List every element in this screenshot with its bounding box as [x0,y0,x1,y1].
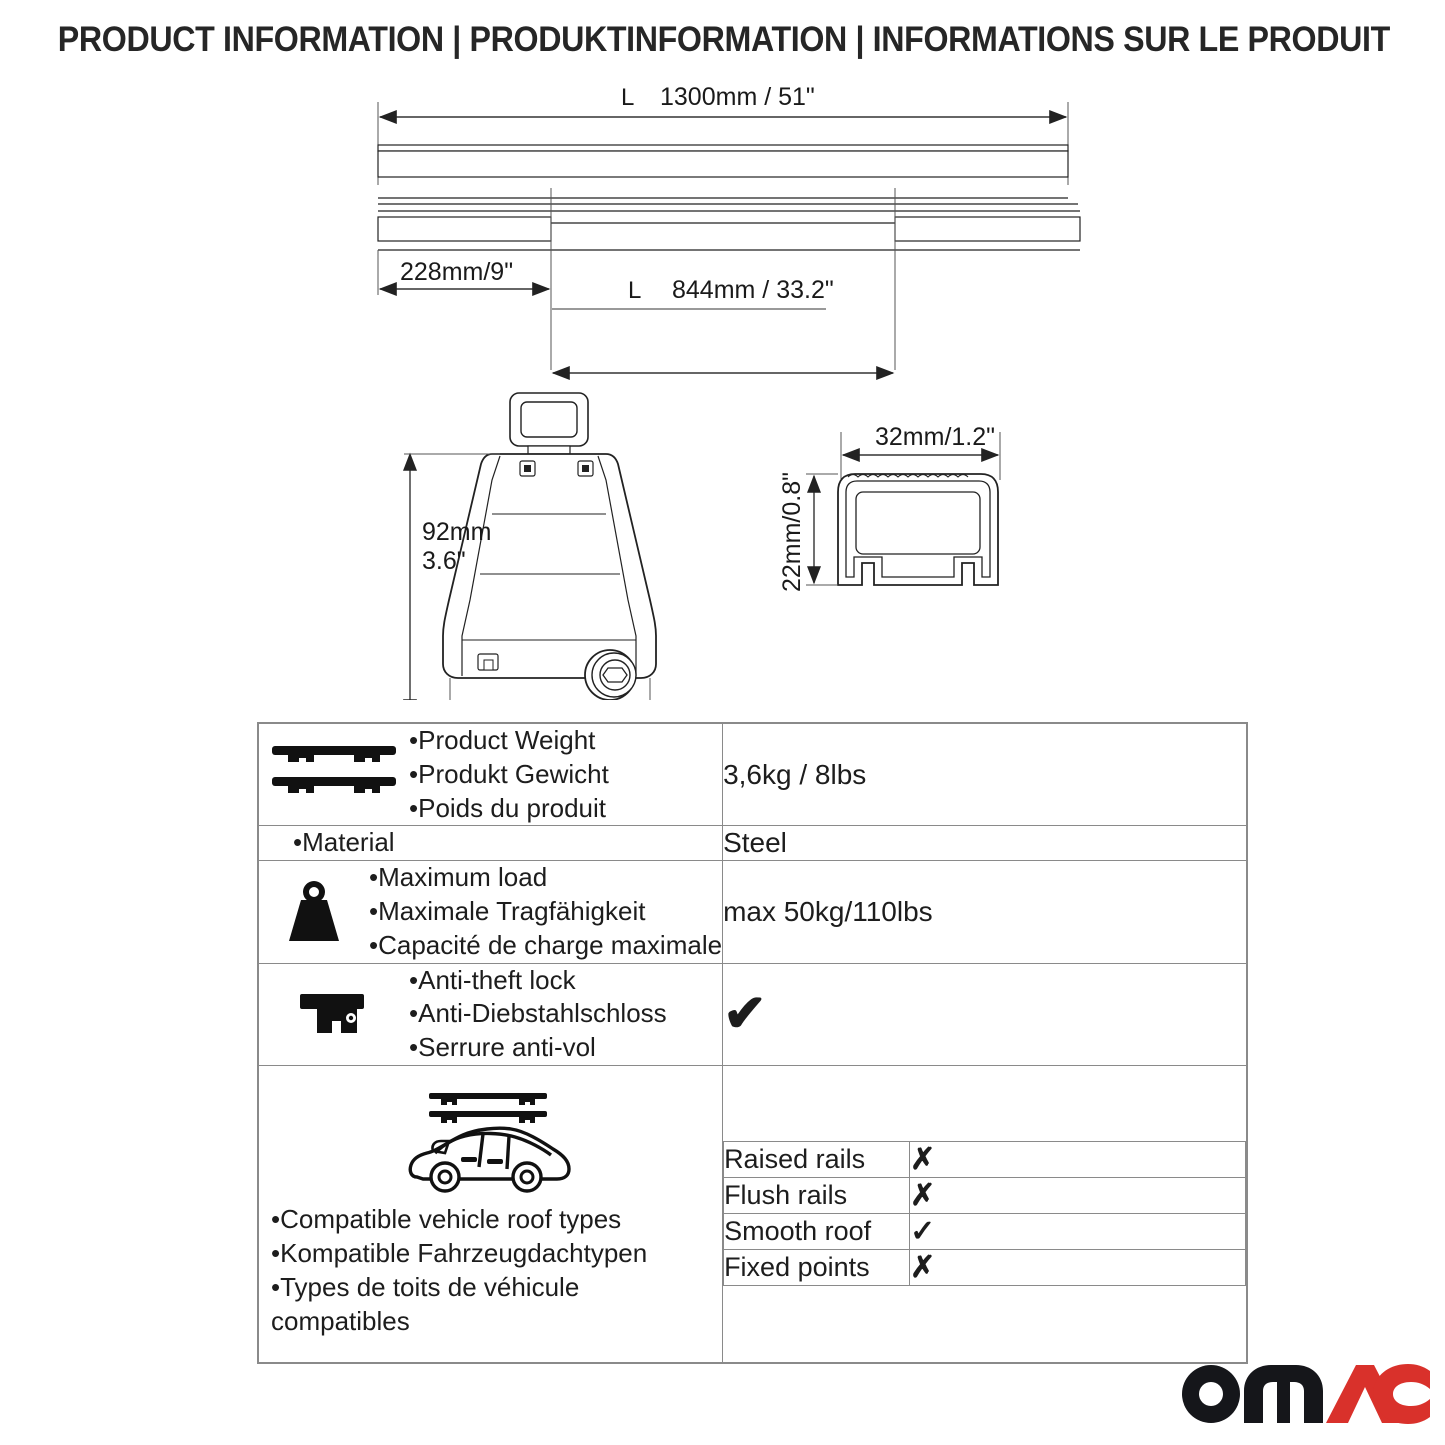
lock-icon [259,988,409,1040]
roof-type-row-raised: Raised rails ✗ [724,1142,1246,1178]
roof-types-subtable-cell: Raised rails ✗ Flush rails ✗ Smooth roof… [723,1065,1247,1363]
label-material: •Material [293,826,395,860]
row-label-cell-roof-types: •Compatible vehicle roof types •Kompatib… [258,1065,723,1363]
roof-type-mark-fixed: ✗ [910,1250,1246,1286]
table-row: •Compatible vehicle roof types •Kompatib… [258,1065,1247,1363]
table-row: •Anti-theft lock •Anti-Diebstahlschloss … [258,963,1247,1065]
label-product-weight-fr: •Poids du produit [409,792,609,826]
value-max-load: max 50kg/110lbs [723,861,1247,963]
specification-table: •Product Weight •Produkt Gewicht •Poids … [257,722,1248,1364]
label-roof-types-fr: •Types de toits de véhicule compatibles [271,1271,716,1339]
omac-logo [1178,1363,1430,1425]
label-lock-de: •Anti-Diebstahlschloss [409,997,667,1031]
label-max-load-fr: •Capacité de charge maximale [369,929,722,963]
label-roof-types-en: •Compatible vehicle roof types [271,1203,716,1237]
dim-228-value: 228mm/9" [400,258,513,286]
roof-type-name-fixed: Fixed points [724,1250,910,1286]
label-product-weight-de: •Produkt Gewicht [409,758,609,792]
dim-844-symbol: L [628,277,641,304]
page-title: PRODUCT INFORMATION | PRODUKTINFORMATION… [58,20,1387,60]
value-product-weight: 3,6kg / 8lbs [723,723,1247,826]
table-row: •Material Steel [258,826,1247,861]
label-max-load-en: •Maximum load [369,861,722,895]
label-lock-en: •Anti-theft lock [409,964,667,998]
dim-22-value: 22mm/0.8" [778,472,806,592]
table-row: •Maximum load •Maximale Tragfähigkeit •C… [258,861,1247,963]
label-product-weight-en: •Product Weight [409,724,609,758]
label-roof-types-de: •Kompatible Fahrzeugdachtypen [271,1237,716,1271]
roof-type-mark-raised: ✗ [910,1142,1246,1178]
table-row: •Product Weight •Produkt Gewicht •Poids … [258,723,1247,826]
roof-type-row-smooth: Smooth roof ✓ [724,1214,1246,1250]
dim-844-value: 844mm / 33.2" [672,276,834,304]
label-lock-fr: •Serrure anti-vol [409,1031,667,1065]
dim-32-value: 32mm/1.2" [875,423,995,451]
roof-type-row-fixed: Fixed points ✗ [724,1250,1246,1286]
weight-icon [259,879,369,945]
foot-front-view: 92mm 3.6" 104mm / 4" [404,393,656,700]
roof-type-name-flush: Flush rails [724,1178,910,1214]
row-label-cell-max-load: •Maximum load •Maximale Tragfähigkeit •C… [258,861,723,963]
crossbars-icon [259,744,409,806]
roof-type-name-smooth: Smooth roof [724,1214,910,1250]
label-max-load-de: •Maximale Tragfähigkeit [369,895,722,929]
dim-1300-symbol: L [621,84,634,111]
value-material: Steel [723,826,1247,861]
car-with-rack-icon [259,1075,722,1203]
roof-types-table: Raised rails ✗ Flush rails ✗ Smooth roof… [723,1141,1246,1286]
roof-type-name-raised: Raised rails [724,1142,910,1178]
dim-92-line2: 3.6" [422,547,466,575]
roof-type-mark-smooth: ✓ [910,1214,1246,1250]
technical-drawing: L 1300mm / 51" 228mm/9" L 844mm / 33.2" [0,80,1445,700]
value-lock-check: ✔ [723,963,1247,1065]
dim-1300-value: 1300mm / 51" [660,83,815,111]
row-label-cell-material: •Material [258,826,723,861]
row-label-cell-lock: •Anti-theft lock •Anti-Diebstahlschloss … [258,963,723,1065]
roof-type-mark-flush: ✗ [910,1178,1246,1214]
dim-92-line1: 92mm [422,518,491,546]
roof-type-row-flush: Flush rails ✗ [724,1178,1246,1214]
profile-cross-section: 32mm/1.2" 22mm/0.8" [778,423,1000,592]
row-label-cell-weight: •Product Weight •Produkt Gewicht •Poids … [258,723,723,826]
